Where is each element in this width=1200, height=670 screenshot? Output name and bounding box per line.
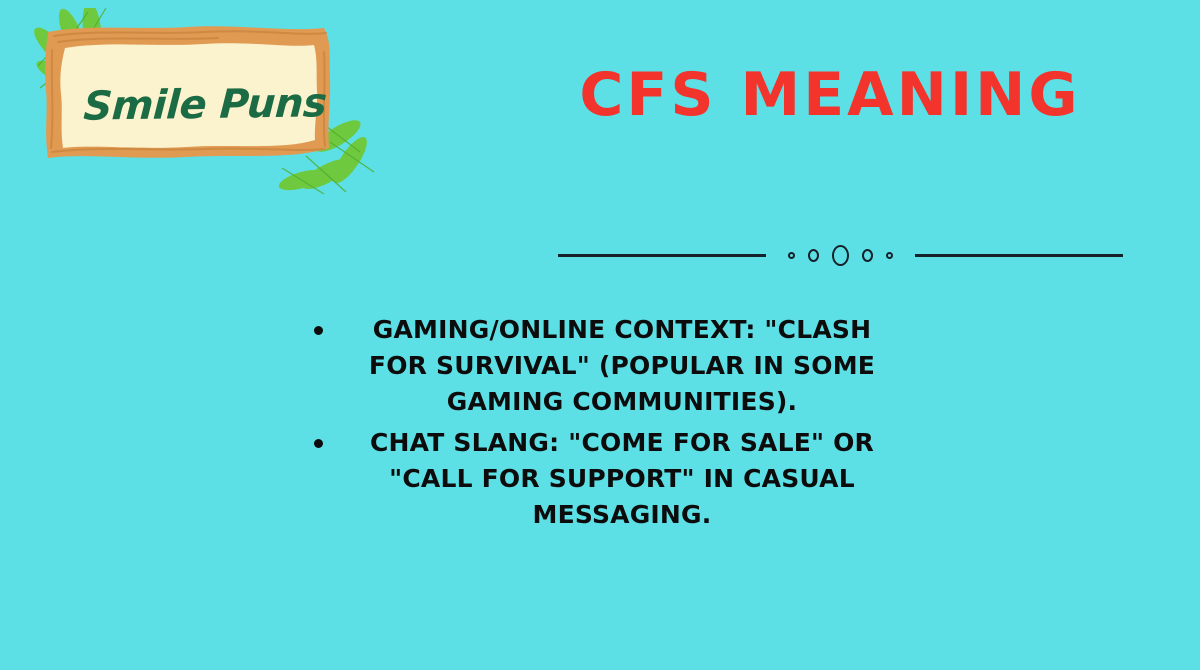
ornamental-divider xyxy=(520,240,1160,270)
divider-dot-icon xyxy=(832,245,849,266)
divider-dot-icon xyxy=(862,249,873,262)
divider-dot-icon xyxy=(788,252,795,259)
divider-line-left xyxy=(558,254,766,257)
divider-dot-icon xyxy=(808,249,819,262)
list-item-label: GAMING/ONLINE CONTEXT: "CLASH FOR SURVIV… xyxy=(348,312,896,419)
meaning-list: GAMING/ONLINE CONTEXT: "CLASH FOR SURVIV… xyxy=(296,312,896,539)
list-item: GAMING/ONLINE CONTEXT: "CLASH FOR SURVIV… xyxy=(296,312,896,419)
logo-text: Smile Puns xyxy=(78,68,332,141)
smile-puns-logo[interactable]: Smile Puns xyxy=(18,8,388,208)
list-item-label: CHAT SLANG: "COME FOR SALE" OR "CALL FOR… xyxy=(348,425,896,532)
slide-canvas: Smile Puns CFS MEANING GAMING/ONLINE CON… xyxy=(0,0,1200,670)
list-item: CHAT SLANG: "COME FOR SALE" OR "CALL FOR… xyxy=(296,425,896,532)
divider-dot-icon xyxy=(886,252,893,259)
bullet-dot-icon xyxy=(314,439,323,448)
divider-line-right xyxy=(915,254,1123,257)
divider-dot-group xyxy=(766,245,915,266)
page-title: CFS MEANING xyxy=(480,64,1180,127)
bullet-dot-icon xyxy=(314,326,323,335)
